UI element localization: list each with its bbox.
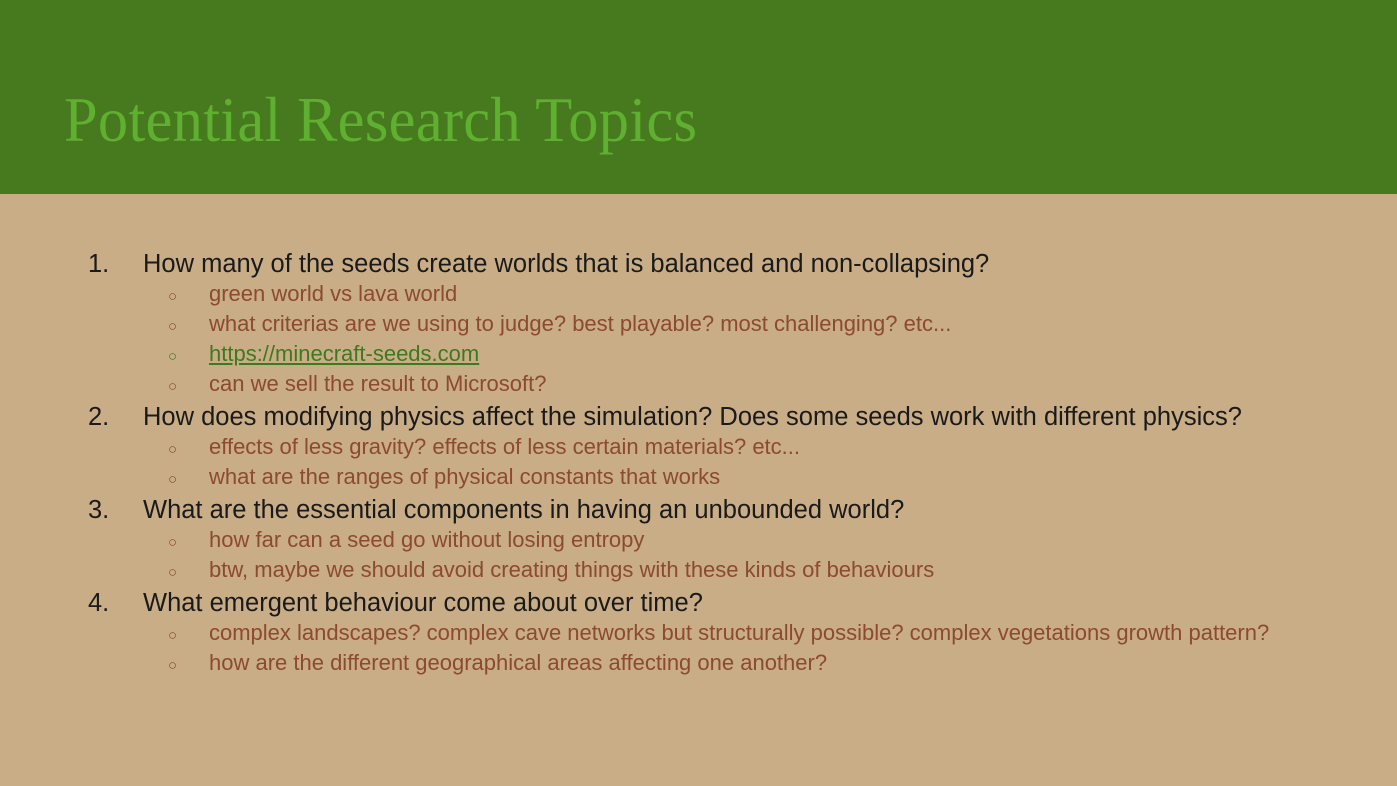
presentation-slide: Potential Research Topics 1.How many of …: [0, 0, 1397, 786]
sub-bullet-link[interactable]: https://minecraft-seeds.com: [209, 339, 479, 369]
sub-bullet-row: ○what are the ranges of physical constan…: [0, 462, 1397, 492]
topic-item: 3.What are the essential components in h…: [0, 495, 1397, 525]
topic-item: 1.How many of the seeds create worlds th…: [0, 249, 1397, 279]
sub-bullet-row: ○green world vs lava world: [0, 279, 1397, 309]
circle-bullet-icon: ○: [168, 342, 209, 372]
sub-bullet-link-row[interactable]: ○https://minecraft-seeds.com: [0, 339, 1397, 369]
sub-bullet-label: green world vs lava world: [209, 279, 457, 309]
sub-bullet-row: ○complex landscapes? complex cave networ…: [0, 618, 1397, 648]
circle-bullet-icon: ○: [168, 651, 209, 681]
topic-label: What are the essential components in hav…: [143, 495, 904, 525]
sub-bullet-label: effects of less gravity? effects of less…: [209, 432, 800, 462]
topic-number: 1.: [0, 249, 143, 279]
circle-bullet-icon: ○: [168, 558, 209, 588]
topic-label: How does modifying physics affect the si…: [143, 402, 1242, 432]
circle-bullet-icon: ○: [168, 621, 209, 651]
sub-bullet-row: ○btw, maybe we should avoid creating thi…: [0, 555, 1397, 585]
sub-bullet-row: ○what criterias are we using to judge? b…: [0, 309, 1397, 339]
topic-number: 3.: [0, 495, 143, 525]
sub-bullet-row: ○can we sell the result to Microsoft?: [0, 369, 1397, 399]
slide-header-band: Potential Research Topics: [0, 0, 1397, 194]
topic-list: 1.How many of the seeds create worlds th…: [0, 249, 1397, 678]
sub-bullet-label: what criterias are we using to judge? be…: [209, 309, 951, 339]
topic-item: 2.How does modifying physics affect the …: [0, 402, 1397, 432]
circle-bullet-icon: ○: [168, 435, 209, 465]
slide-body: 1.How many of the seeds create worlds th…: [0, 194, 1397, 786]
circle-bullet-icon: ○: [168, 372, 209, 402]
sub-bullet-label: what are the ranges of physical constant…: [209, 462, 720, 492]
topic-number: 4.: [0, 588, 143, 618]
sub-bullet-label: how far can a seed go without losing ent…: [209, 525, 644, 555]
topic-item: 4.What emergent behaviour come about ove…: [0, 588, 1397, 618]
circle-bullet-icon: ○: [168, 528, 209, 558]
sub-bullet-label: how are the different geographical areas…: [209, 648, 827, 678]
sub-bullet-row: ○how far can a seed go without losing en…: [0, 525, 1397, 555]
circle-bullet-icon: ○: [168, 312, 209, 342]
page-title: Potential Research Topics: [64, 86, 697, 154]
topic-number: 2.: [0, 402, 143, 432]
sub-bullet-row: ○effects of less gravity? effects of les…: [0, 432, 1397, 462]
sub-bullet-label: can we sell the result to Microsoft?: [209, 369, 546, 399]
topic-label: What emergent behaviour come about over …: [143, 588, 703, 618]
sub-bullet-label: complex landscapes? complex cave network…: [209, 618, 1269, 648]
circle-bullet-icon: ○: [168, 282, 209, 312]
circle-bullet-icon: ○: [168, 465, 209, 495]
sub-bullet-label: btw, maybe we should avoid creating thin…: [209, 555, 934, 585]
topic-label: How many of the seeds create worlds that…: [143, 249, 989, 279]
sub-bullet-row: ○how are the different geographical area…: [0, 648, 1397, 678]
